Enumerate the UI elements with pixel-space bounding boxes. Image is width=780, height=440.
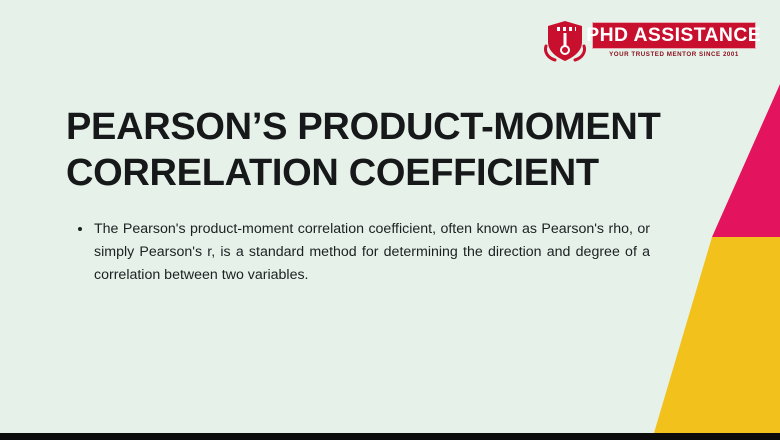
slide-canvas: PHD ASSISTANCE YOUR TRUSTED MENTOR SINCE… bbox=[0, 0, 780, 440]
bullet-item: The Pearson's product-moment correlation… bbox=[76, 218, 650, 287]
slide-title-line-2: CORRELATION COEFFICIENT bbox=[66, 150, 666, 196]
logo-tagline-text: YOUR TRUSTED MENTOR SINCE 2001 bbox=[592, 51, 756, 58]
logo-name-banner: PHD ASSISTANCE bbox=[592, 22, 756, 49]
yellow-triangle-shape bbox=[654, 237, 780, 433]
phd-assistance-logo: PHD ASSISTANCE YOUR TRUSTED MENTOR SINCE… bbox=[540, 18, 758, 68]
logo-name-text: PHD ASSISTANCE bbox=[587, 25, 762, 47]
shield-emblem-icon bbox=[542, 20, 588, 62]
slide-title: PEARSON’S PRODUCT-MOMENT CORRELATION COE… bbox=[66, 104, 666, 197]
slide-title-line-1: PEARSON’S PRODUCT-MOMENT bbox=[66, 104, 666, 150]
pink-triangle-shape bbox=[712, 84, 780, 237]
body-bullet-list: The Pearson's product-moment correlation… bbox=[76, 218, 650, 287]
bottom-divider-bar bbox=[0, 433, 780, 440]
